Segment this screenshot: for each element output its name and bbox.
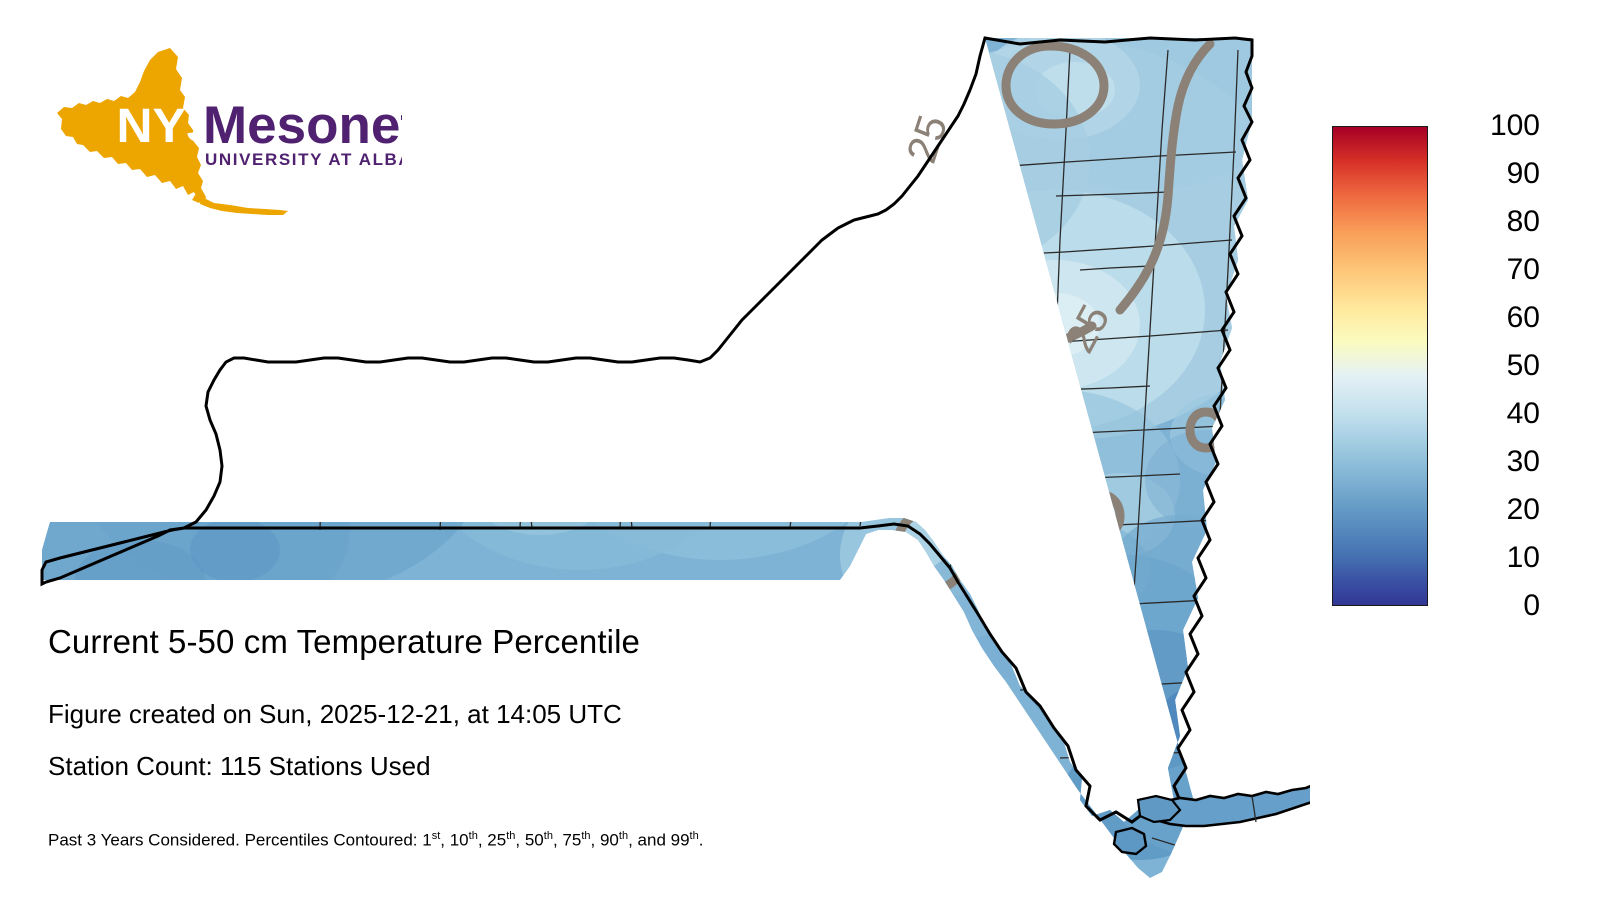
contour-ring-schoharie	[1078, 494, 1120, 536]
colorbar-tick-50: 50	[1436, 348, 1540, 384]
colorbar-gradient	[1332, 126, 1428, 606]
creation-timestamp: Figure created on Sun, 2025-12-21, at 14…	[48, 698, 622, 730]
station-count: Station Count: 115 Stations Used	[48, 750, 431, 782]
contour-arc-lower-hudson	[1184, 678, 1220, 758]
staten-island-shape	[1114, 828, 1146, 854]
colorbar-tick-70: 70	[1436, 252, 1540, 288]
page-title: Current 5-50 cm Temperature Percentile	[48, 622, 640, 662]
colorbar-tick-90: 90	[1436, 156, 1540, 192]
colorbar-tick-20: 20	[1436, 492, 1540, 528]
contour-footnote: Past 3 Years Considered. Percentiles Con…	[48, 825, 703, 852]
colorbar-tick-30: 30	[1436, 444, 1540, 480]
colorbar-tick-100: 100	[1436, 108, 1540, 144]
long-island-group	[1114, 718, 1310, 854]
colorbar-tick-labels: 1009080706050403020100	[1436, 108, 1546, 624]
colorbar-tick-60: 60	[1436, 300, 1540, 336]
contour-ring-ontario	[802, 298, 877, 352]
colorbar-tick-40: 40	[1436, 396, 1540, 432]
percentile-colorbar: 1009080706050403020100	[1332, 126, 1572, 616]
colorbar-tick-80: 80	[1436, 204, 1540, 240]
colorbar-tick-0: 0	[1436, 588, 1540, 624]
contour-label-25-north: 25	[897, 109, 956, 168]
colorbar-tick-10: 10	[1436, 540, 1540, 576]
